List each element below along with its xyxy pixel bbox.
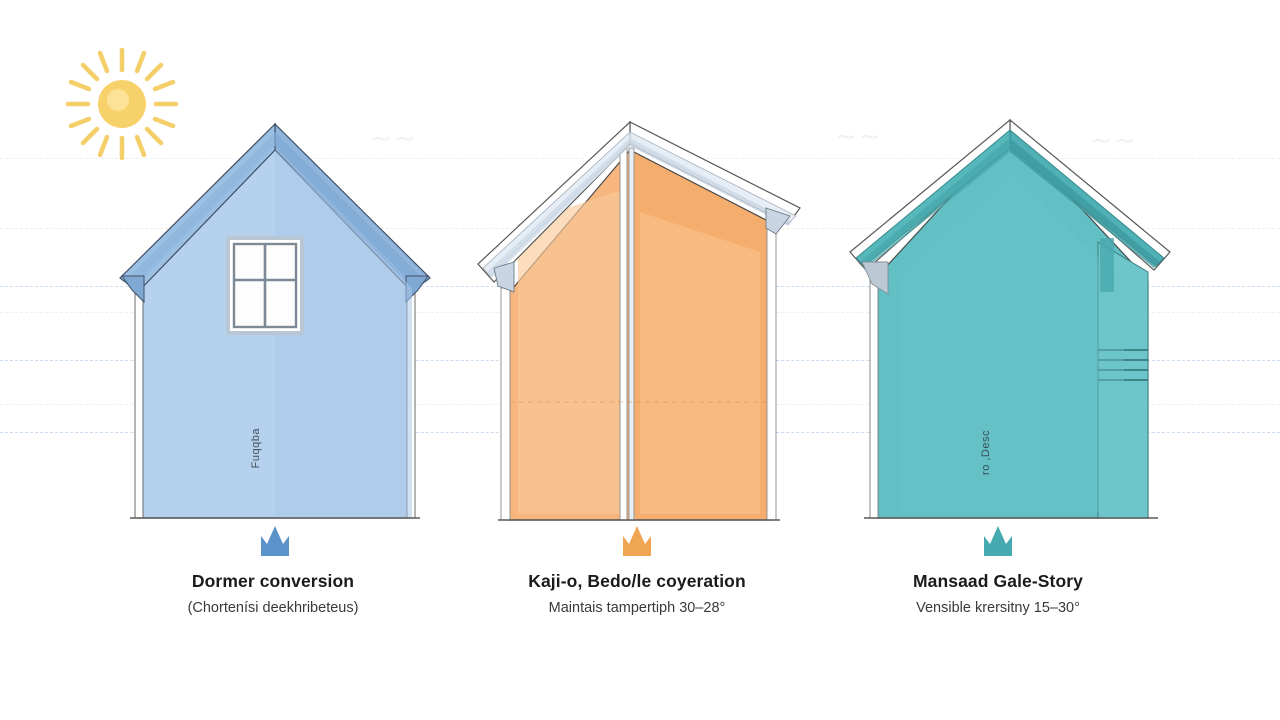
caption-subtitle-3: Vensible krersitny 15–30° (818, 600, 1178, 616)
window (228, 238, 302, 333)
vertical-annotation-1: Fuqqba (250, 428, 262, 468)
vertical-annotation-3: ro ,Desc (980, 430, 992, 475)
caption-block-2: Kaji-o, Bedo/le coyeration Maintais tamp… (457, 571, 817, 616)
caption-block-1: Dormer conversion (Chortenísi deekhribet… (93, 571, 453, 616)
house-illustration-3: ro ,Desc (832, 112, 1182, 535)
caption-subtitle-1: (Chortenísi deekhribeteus) (93, 600, 453, 616)
crown-marker-icon-2[interactable] (616, 524, 658, 565)
caption-title-2: Kaji-o, Bedo/le coyeration (457, 571, 817, 592)
house-illustration-1: Fuqqba (110, 110, 450, 535)
illustration-canvas: ∼∼ ∼∼ ∼∼ (0, 0, 1280, 720)
crown-marker-icon-3[interactable] (977, 524, 1019, 565)
caption-title-1: Dormer conversion (93, 571, 453, 592)
house-illustration-2 (470, 112, 810, 535)
caption-subtitle-2: Maintais tampertiph 30–28° (457, 600, 817, 616)
crown-marker-icon-1[interactable] (254, 524, 296, 565)
caption-title-3: Mansaad Gale-Story (818, 571, 1178, 592)
caption-block-3: Mansaad Gale-Story Vensible krersitny 15… (818, 571, 1178, 616)
